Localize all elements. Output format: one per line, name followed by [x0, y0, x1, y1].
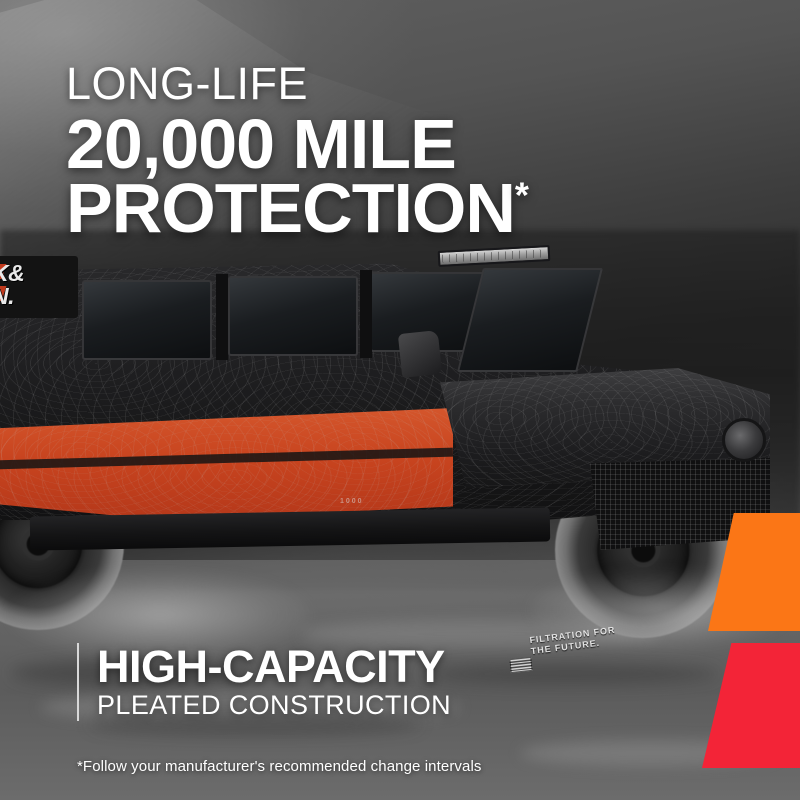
headlight	[722, 418, 766, 462]
roof-light-bar	[438, 245, 551, 267]
ad-canvas: K& N. 1000 FILTRATION FOR THE FUTURE. LO…	[0, 0, 800, 800]
side-mirror	[398, 330, 442, 378]
subhead-title: HIGH-CAPACITY	[97, 643, 451, 690]
rear-door-window	[228, 276, 358, 356]
subhead-subtitle: PLEATED CONSTRUCTION	[97, 690, 451, 720]
rear-window	[82, 280, 212, 360]
subhead-block: HIGH-CAPACITY PLEATED CONSTRUCTION	[77, 643, 451, 721]
kn-logo-plate: K& N.	[0, 256, 78, 318]
kn-logo-line2: N.	[0, 285, 24, 308]
kn-logo-text: K& N.	[0, 262, 24, 308]
ground-shadow-streak	[420, 664, 720, 684]
headline-main: 20,000 MILE PROTECTION*	[66, 112, 666, 240]
headline-asterisk: *	[515, 175, 528, 216]
footnote-disclaimer: *Follow your manufacturer's recommended …	[77, 758, 481, 775]
vehicle-illustration: K& N. 1000 FILTRATION FOR THE FUTURE.	[0, 240, 800, 660]
kn-logo-line1: K&	[0, 262, 24, 285]
headline-line-2: PROTECTION*	[66, 176, 666, 240]
b-pillar	[216, 274, 228, 360]
door-badge: 1000	[340, 498, 364, 505]
windshield	[457, 268, 603, 372]
flag-decal	[509, 657, 532, 673]
headline-line-2-text: PROTECTION	[66, 169, 515, 247]
headline-block: LONG-LIFE 20,000 MILE PROTECTION*	[66, 60, 666, 240]
c-pillar	[360, 270, 372, 358]
hood-slogan: FILTRATION FOR THE FUTURE.	[529, 625, 617, 657]
headline-eyebrow: LONG-LIFE	[66, 60, 666, 108]
